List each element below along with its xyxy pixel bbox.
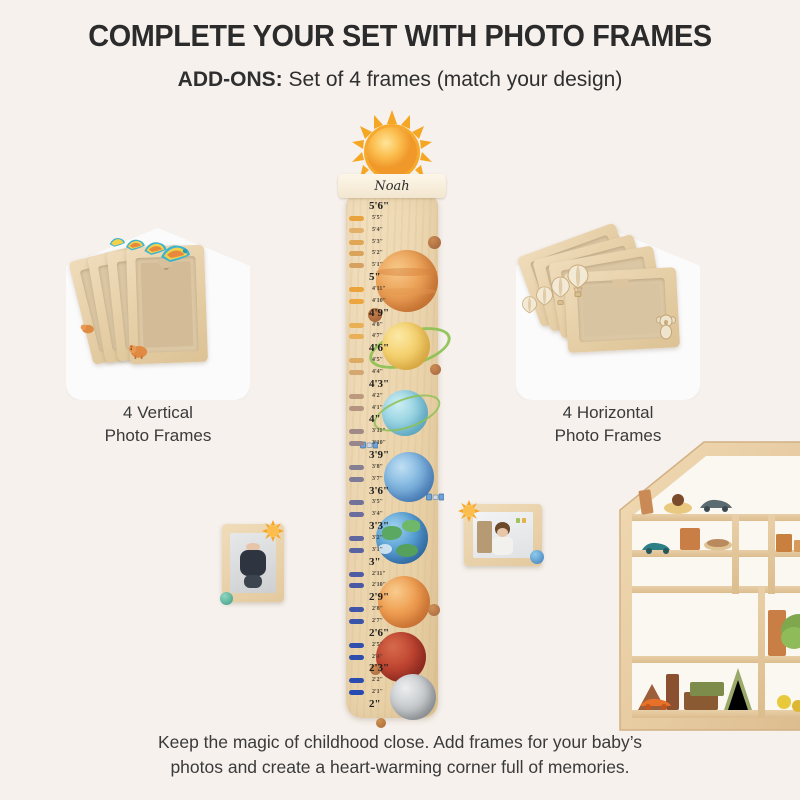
scale-label-minor: 5'2" bbox=[372, 250, 383, 256]
scale-tick bbox=[349, 572, 364, 577]
scale-tick bbox=[349, 394, 364, 399]
scale-tick bbox=[349, 619, 364, 624]
scale-tick bbox=[349, 477, 364, 482]
scale-label-minor: 4'10" bbox=[372, 298, 386, 304]
scale-tick bbox=[349, 429, 364, 434]
scale-label-minor: 2'2" bbox=[372, 677, 383, 683]
scale-label-minor: 3'10" bbox=[372, 440, 386, 446]
scale-tick bbox=[349, 323, 364, 328]
product-card-vertical-frames[interactable]: 4 Vertical Photo Frames bbox=[58, 220, 258, 460]
scale-tick bbox=[349, 287, 364, 292]
footer-line-1: Keep the magic of childhood close. Add f… bbox=[70, 730, 730, 755]
scale-tick bbox=[349, 643, 364, 648]
page-subtitle: ADD-ONS: Set of 4 frames (match your des… bbox=[0, 68, 800, 92]
scale-label-minor: 5'4" bbox=[372, 227, 383, 233]
scale-tick bbox=[349, 607, 364, 612]
scale-label-major: 4'6" bbox=[369, 342, 389, 354]
scale-label-minor: 3'1" bbox=[372, 547, 383, 553]
scale-label-major: 3'9" bbox=[369, 449, 389, 461]
scale-label-major: 3'6" bbox=[369, 485, 389, 497]
green-planet-icon bbox=[220, 592, 233, 605]
scale-tick bbox=[349, 441, 364, 446]
scale-label-major: 2'9" bbox=[369, 591, 389, 603]
addons-label: ADD-ONS: bbox=[178, 68, 283, 91]
scale-label-major: 2'6" bbox=[369, 627, 389, 639]
scale-label-major: 4'9" bbox=[369, 307, 389, 319]
scale-tick bbox=[349, 655, 364, 660]
scale-label-minor: 4'7" bbox=[372, 333, 383, 339]
scale-label-major: 2" bbox=[369, 698, 381, 710]
house-shaped-toy-shelf bbox=[608, 438, 800, 768]
scale-tick bbox=[349, 512, 364, 517]
horizontal-frame-stack bbox=[508, 220, 708, 400]
vertical-frame-stack bbox=[58, 220, 258, 400]
scale-label-minor: 5'3" bbox=[372, 239, 383, 245]
scale-label-minor: 3'8" bbox=[372, 464, 383, 470]
scale-label-minor: 3'11" bbox=[372, 428, 386, 434]
product-card-horizontal-frames[interactable]: 4 Horizontal Photo Frames bbox=[508, 220, 708, 460]
scale-label-minor: 5'1" bbox=[372, 262, 383, 268]
scale-label-minor: 4'1" bbox=[372, 405, 383, 411]
scale-label-minor: 5'5" bbox=[372, 215, 383, 221]
wall-photo-child-horizontal[interactable] bbox=[464, 504, 542, 566]
scale-tick bbox=[349, 240, 364, 245]
scale-label-minor: 2'1" bbox=[372, 689, 383, 695]
koala-animal-icon bbox=[656, 314, 676, 340]
scale-tick bbox=[349, 263, 364, 268]
scale-label-major: 4" bbox=[369, 413, 381, 425]
scale-label-minor: 4'5" bbox=[372, 357, 383, 363]
scale-tick bbox=[349, 690, 364, 695]
footer-caption: Keep the magic of childhood close. Add f… bbox=[70, 730, 730, 781]
scale-label-minor: 3'2" bbox=[372, 535, 383, 541]
scale-tick bbox=[349, 678, 364, 683]
scale-label-minor: 4'8" bbox=[372, 322, 383, 328]
scale-label-minor: 4'11" bbox=[372, 286, 386, 292]
scale-label-major: 2'3" bbox=[369, 662, 389, 674]
scale-tick bbox=[349, 358, 364, 363]
growth-chart[interactable]: 5'6"5'5"5'4"5'3"5'2"5'1"5"4'11"4'10"4'9"… bbox=[332, 108, 450, 718]
scale-label-minor: 3'4" bbox=[372, 511, 383, 517]
mercury-planet bbox=[376, 718, 386, 728]
scale-label-minor: 2'8" bbox=[372, 606, 383, 612]
scale-label-minor: 2'11" bbox=[372, 571, 386, 577]
scale-label-major: 3'3" bbox=[369, 520, 389, 532]
scale-tick bbox=[349, 465, 364, 470]
parrot-bird-icon bbox=[108, 235, 126, 249]
wall-photo-baby-vertical[interactable] bbox=[222, 524, 284, 602]
capybara-animal-icon bbox=[80, 322, 96, 335]
footer-line-2: photos and create a heart-warming corner… bbox=[70, 755, 730, 780]
parrot-bird-icon bbox=[124, 236, 146, 253]
scale-tick bbox=[349, 583, 364, 588]
scale-tick bbox=[349, 536, 364, 541]
baby-photo bbox=[230, 533, 276, 593]
scale-tick bbox=[349, 251, 364, 256]
scale-label-minor: 2'7" bbox=[372, 618, 383, 624]
addons-description: Set of 4 frames (match your design) bbox=[283, 68, 623, 91]
child-photo bbox=[473, 512, 533, 558]
scale-label-major: 5" bbox=[369, 271, 381, 283]
scale-tick bbox=[349, 334, 364, 339]
scale-label-major: 4'3" bbox=[369, 378, 389, 390]
scale-tick bbox=[349, 299, 364, 304]
scale-tick bbox=[349, 228, 364, 233]
scale-label-minor: 2'4" bbox=[372, 654, 383, 660]
page-title: COMPLETE YOUR SET WITH PHOTO FRAMES bbox=[28, 18, 772, 54]
capybara-animal-icon bbox=[128, 342, 150, 360]
scale-label-minor: 2'5" bbox=[372, 642, 383, 648]
scale-label-major: 3" bbox=[369, 556, 381, 568]
scale-tick bbox=[349, 216, 364, 221]
scale-label-minor: 2'10" bbox=[372, 582, 386, 588]
marketing-banner: COMPLETE YOUR SET WITH PHOTO FRAMES ADD-… bbox=[0, 0, 800, 800]
scale-label-minor: 3'5" bbox=[372, 499, 383, 505]
scale-tick bbox=[349, 500, 364, 505]
scale-tick bbox=[349, 406, 364, 411]
scale-tick bbox=[349, 548, 364, 553]
earth-icon bbox=[530, 550, 544, 564]
sun-icon bbox=[262, 520, 284, 542]
caption-line-1: 4 Horizontal bbox=[508, 402, 708, 425]
caption-line-2: Photo Frames bbox=[58, 425, 258, 448]
hot-air-balloon-icon bbox=[521, 296, 538, 320]
caption-line-1: 4 Vertical bbox=[58, 402, 258, 425]
scale-label-minor: 3'7" bbox=[372, 476, 383, 482]
name-banner: Noah bbox=[338, 174, 446, 198]
scale-tick bbox=[349, 370, 364, 375]
scale-label-major: 5'6" bbox=[369, 200, 389, 212]
scale-label-minor: 4'2" bbox=[372, 393, 383, 399]
child-name: Noah bbox=[374, 179, 409, 194]
card-caption: 4 Vertical Photo Frames bbox=[58, 402, 258, 448]
scale-label-minor: 4'4" bbox=[372, 369, 383, 375]
height-scale: 5'6"5'5"5'4"5'3"5'2"5'1"5"4'11"4'10"4'9"… bbox=[346, 200, 438, 712]
sun-icon bbox=[458, 500, 480, 522]
